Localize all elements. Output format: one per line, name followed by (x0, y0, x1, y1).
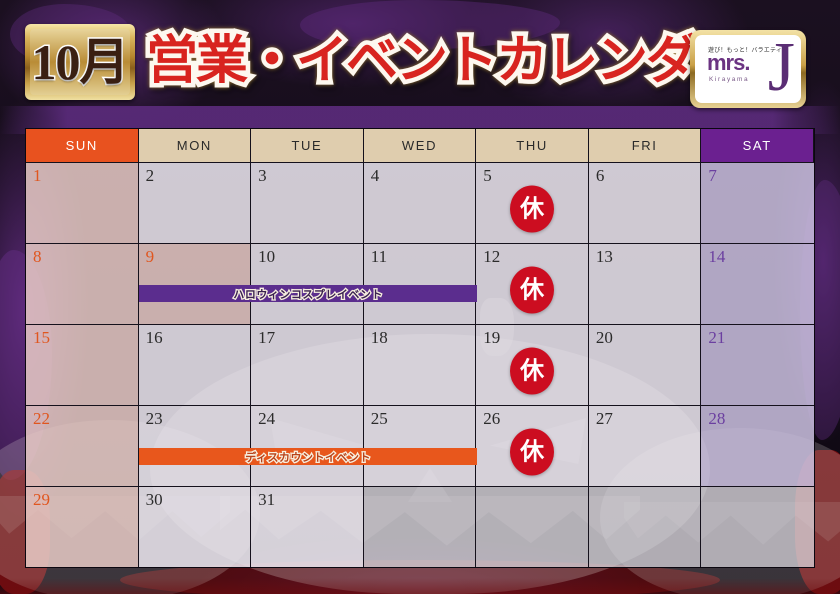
day-number: 30 (146, 491, 163, 509)
logo-brand-text: mrs. (707, 52, 749, 74)
closed-day-badge: 休 (510, 267, 554, 314)
month-badge: 10月 (25, 24, 135, 100)
calendar-empty-cell (364, 486, 477, 567)
weekday-header-wed: WED (364, 129, 477, 162)
calendar-empty-cell (476, 486, 589, 567)
day-number: 7 (708, 167, 717, 185)
day-number: 26 (483, 410, 500, 428)
closed-day-badge: 休 (510, 348, 554, 395)
calendar-day-cell[interactable]: 28 (701, 405, 814, 486)
closed-day-badge: 休 (510, 186, 554, 233)
calendar-day-cell[interactable]: 29 (26, 486, 139, 567)
bottom-red-glow (0, 578, 840, 594)
day-number: 24 (258, 410, 275, 428)
day-number: 14 (708, 248, 725, 266)
calendar-day-cell[interactable]: 2 (139, 162, 252, 243)
calendar-grid: SUNMONTUEWEDTHUFRISAT12345休6789101112休13… (25, 128, 815, 568)
calendar-day-cell[interactable]: 11 (364, 243, 477, 324)
calendar-day-cell[interactable]: 5休 (476, 162, 589, 243)
calendar-day-cell[interactable]: 21 (701, 324, 814, 405)
day-number: 22 (33, 410, 50, 428)
day-number: 1 (33, 167, 42, 185)
calendar-day-cell[interactable]: 13 (589, 243, 702, 324)
calendar-day-cell[interactable]: 23 (139, 405, 252, 486)
weekday-header-tue: TUE (251, 129, 364, 162)
calendar-day-cell[interactable]: 31 (251, 486, 364, 567)
calendar-day-cell[interactable]: 17 (251, 324, 364, 405)
calendar-day-cell[interactable]: 18 (364, 324, 477, 405)
event-bar-label: ディスカウントイベント (245, 449, 371, 465)
calendar-day-cell[interactable]: 10 (251, 243, 364, 324)
weekday-header-mon: MON (139, 129, 252, 162)
month-label: 10月 (32, 37, 129, 87)
brand-logo-inner: J 遊び！もっと！バラエティ mrs. Kirayama (695, 35, 801, 103)
closed-mark-label: 休 (520, 278, 544, 302)
calendar-empty-cell (589, 486, 702, 567)
day-number: 12 (483, 248, 500, 266)
day-number: 9 (146, 248, 155, 266)
calendar-day-cell[interactable]: 8 (26, 243, 139, 324)
day-number: 31 (258, 491, 275, 509)
calendar-day-cell[interactable]: 16 (139, 324, 252, 405)
day-number: 20 (596, 329, 613, 347)
closed-mark-label: 休 (520, 440, 544, 464)
calendar-day-cell[interactable]: 20 (589, 324, 702, 405)
calendar-day-cell[interactable]: 19休 (476, 324, 589, 405)
day-number: 25 (371, 410, 388, 428)
day-number: 15 (33, 329, 50, 347)
calendar-day-cell[interactable]: 3 (251, 162, 364, 243)
calendar-day-cell[interactable]: 4 (364, 162, 477, 243)
calendar-day-cell[interactable]: 1 (26, 162, 139, 243)
calendar-day-cell[interactable]: 24 (251, 405, 364, 486)
day-number: 10 (258, 248, 275, 266)
day-number: 2 (146, 167, 155, 185)
weekday-header-fri: FRI (589, 129, 702, 162)
brand-logo[interactable]: J 遊び！もっと！バラエティ mrs. Kirayama (690, 30, 806, 108)
calendar-day-cell[interactable]: 6 (589, 162, 702, 243)
poster-header: 10月 営業・イベントカレンダー J 遊び！もっと！バラエティ mrs. Kir… (0, 0, 840, 126)
event-bar[interactable]: ハロウィンコスプレイベント (139, 285, 478, 302)
logo-subtitle: Kirayama (709, 76, 749, 83)
calendar-empty-cell (701, 486, 814, 567)
calendar-day-cell[interactable]: 14 (701, 243, 814, 324)
day-number: 18 (371, 329, 388, 347)
day-number: 19 (483, 329, 500, 347)
calendar-poster: 10月 営業・イベントカレンダー J 遊び！もっと！バラエティ mrs. Kir… (0, 0, 840, 594)
day-number: 16 (146, 329, 163, 347)
event-bar-label: ハロウィンコスプレイベント (233, 286, 383, 302)
day-number: 8 (33, 248, 42, 266)
closed-mark-label: 休 (520, 197, 544, 221)
calendar-day-cell[interactable]: 9 (139, 243, 252, 324)
calendar-day-cell[interactable]: 7 (701, 162, 814, 243)
day-number: 21 (708, 329, 725, 347)
calendar-day-cell[interactable]: 26休 (476, 405, 589, 486)
day-number: 28 (708, 410, 725, 428)
day-number: 13 (596, 248, 613, 266)
calendar-day-cell[interactable]: 30 (139, 486, 252, 567)
day-number: 3 (258, 167, 267, 185)
day-number: 5 (483, 167, 492, 185)
weekday-header-sat: SAT (701, 129, 814, 162)
day-number: 6 (596, 167, 605, 185)
weekday-header-thu: THU (476, 129, 589, 162)
day-number: 17 (258, 329, 275, 347)
day-number: 23 (146, 410, 163, 428)
page-title: 営業・イベントカレンダー (146, 28, 746, 96)
calendar-day-cell[interactable]: 12休 (476, 243, 589, 324)
event-bar[interactable]: ディスカウントイベント (139, 448, 478, 465)
day-number: 11 (371, 248, 387, 266)
calendar-day-cell[interactable]: 27 (589, 405, 702, 486)
day-number: 27 (596, 410, 613, 428)
weekday-header-sun: SUN (26, 129, 139, 162)
day-number: 4 (371, 167, 380, 185)
closed-mark-label: 休 (520, 359, 544, 383)
day-number: 29 (33, 491, 50, 509)
calendar-day-cell[interactable]: 25 (364, 405, 477, 486)
closed-day-badge: 休 (510, 429, 554, 476)
calendar-day-cell[interactable]: 15 (26, 324, 139, 405)
calendar-day-cell[interactable]: 22 (26, 405, 139, 486)
